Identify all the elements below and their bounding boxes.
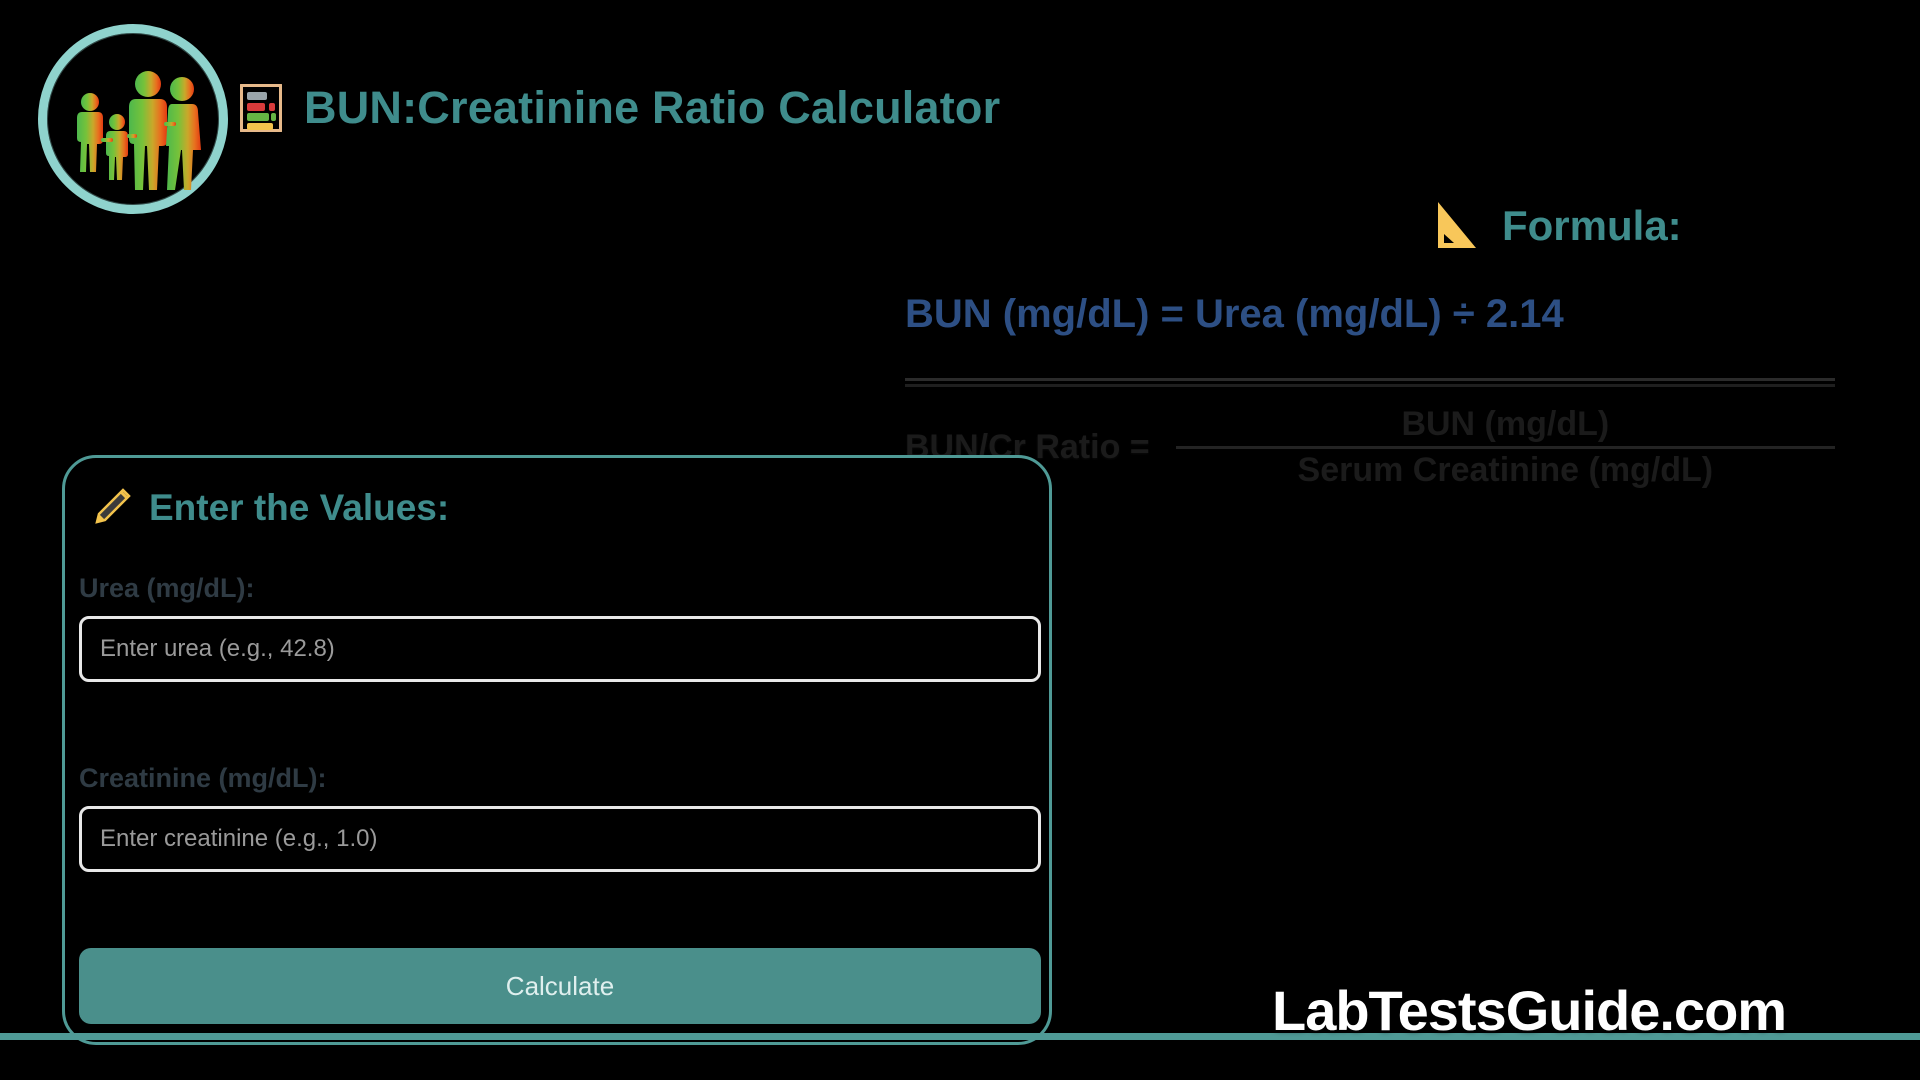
creatinine-label: Creatinine (mg/dL): (79, 763, 1041, 794)
pencil-icon (89, 486, 133, 530)
input-card: Enter the Values: Urea (mg/dL): Creatini… (62, 455, 1052, 1045)
formula-divider-top-2 (905, 384, 1835, 387)
calculator-screen: BUN:Creatinine Ratio Calculator Formula:… (0, 0, 1920, 1080)
footer-brand: LabTestsGuide.com (1272, 978, 1786, 1043)
formula-divider-top (905, 378, 1835, 381)
abacus-icon (240, 84, 282, 132)
ratio-fraction: BUN (mg/dL) Serum Creatinine (mg/dL) (1176, 403, 1835, 492)
family-silhouette-icon (60, 46, 206, 192)
fraction-denominator: Serum Creatinine (mg/dL) (1288, 449, 1724, 492)
formula-bun-equation: BUN (mg/dL) = Urea (mg/dL) ÷ 2.14 (905, 292, 1564, 337)
calculate-button[interactable]: Calculate (79, 948, 1041, 1024)
formula-heading: Formula: (1502, 202, 1682, 250)
card-heading-row: Enter the Values: (89, 486, 449, 530)
creatinine-input[interactable] (79, 806, 1041, 872)
creatinine-field-group: Creatinine (mg/dL): (79, 763, 1041, 872)
formula-heading-row: Formula: (1432, 200, 1682, 252)
urea-field-group: Urea (mg/dL): (79, 573, 1041, 682)
fraction-numerator: BUN (mg/dL) (1391, 403, 1619, 446)
page-title: BUN:Creatinine Ratio Calculator (304, 82, 1000, 134)
card-heading: Enter the Values: (149, 487, 449, 529)
page-title-row: BUN:Creatinine Ratio Calculator (240, 82, 1000, 134)
urea-input[interactable] (79, 616, 1041, 682)
site-logo (38, 24, 228, 214)
urea-label: Urea (mg/dL): (79, 573, 1041, 604)
ruler-triangle-icon (1432, 200, 1480, 252)
